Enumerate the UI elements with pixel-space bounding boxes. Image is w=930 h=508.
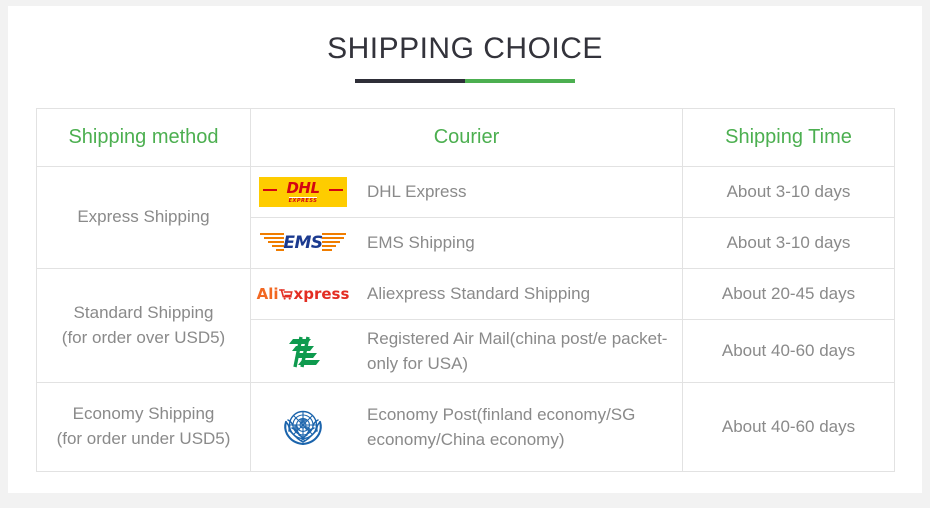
courier-name: Economy Post(finland economy/SG economy/… (355, 402, 682, 453)
ems-stripes-right (322, 233, 346, 251)
logo-slot: DHL EXPRESS (251, 177, 355, 207)
logo-slot: Ali xpress (251, 287, 355, 302)
shopping-cart-icon (279, 287, 294, 302)
method-label: Economy Shipping (37, 402, 250, 427)
method-cell-economy: Economy Shipping (for order under USD5) (37, 383, 251, 472)
ems-stripes-left (260, 233, 284, 251)
shipping-table: Shipping method Courier Shipping Time Ex… (36, 108, 895, 472)
method-cell-standard: Standard Shipping (for order over USD5) (37, 269, 251, 383)
table-row: Express Shipping DHL EXPRESS DHL Expr (37, 167, 895, 218)
column-header-shipping-time: Shipping Time (683, 109, 895, 167)
logo-slot (251, 401, 355, 453)
time-cell: About 3-10 days (683, 218, 895, 269)
method-label: Standard Shipping (37, 301, 250, 326)
method-note: (for order over USD5) (37, 326, 250, 351)
courier-name: Aliexpress Standard Shipping (355, 281, 590, 307)
courier-cell-aliexpress: Ali xpress (251, 269, 683, 320)
page-title: SHIPPING CHOICE (8, 32, 922, 65)
china-post-logo (280, 328, 326, 374)
ems-logo-word: EMS (283, 235, 322, 252)
courier-name: EMS Shipping (355, 230, 475, 256)
courier-cell-ems: EMS EMS Shipping (251, 218, 683, 269)
dhl-logo-subtext: EXPRESS (289, 197, 318, 204)
logo-slot (251, 328, 355, 374)
title-underline (355, 79, 575, 83)
dhl-bar-right (329, 189, 343, 191)
time-cell: About 20-45 days (683, 269, 895, 320)
aliexpress-logo-prefix: Ali (257, 287, 279, 302)
courier-name: DHL Express (355, 179, 467, 205)
table-row: Economy Shipping (for order under USD5) (37, 383, 895, 472)
method-cell-express: Express Shipping (37, 167, 251, 269)
title-underline-dark (355, 79, 465, 83)
time-cell: About 40-60 days (683, 320, 895, 383)
dhl-logo: DHL EXPRESS (259, 177, 347, 207)
united-nations-logo (277, 401, 329, 453)
courier-cell-economy-post: Economy Post(finland economy/SG economy/… (251, 383, 683, 472)
dhl-logo-word: DHL (286, 181, 319, 196)
table-row: Standard Shipping (for order over USD5) … (37, 269, 895, 320)
time-cell: About 3-10 days (683, 167, 895, 218)
column-header-shipping-method: Shipping method (37, 109, 251, 167)
column-header-courier: Courier (251, 109, 683, 167)
courier-cell-dhl: DHL EXPRESS DHL Express (251, 167, 683, 218)
time-cell: About 40-60 days (683, 383, 895, 472)
method-label: Express Shipping (37, 205, 250, 230)
title-underline-green (465, 79, 575, 83)
dhl-bar-left (263, 189, 277, 191)
courier-cell-china-post: Registered Air Mail(china post/e packet-… (251, 320, 683, 383)
method-note: (for order under USD5) (37, 427, 250, 452)
aliexpress-logo-suffix: xpress (294, 287, 350, 302)
table-header-row: Shipping method Courier Shipping Time (37, 109, 895, 167)
aliexpress-logo: Ali xpress (257, 287, 350, 302)
ems-logo: EMS (258, 228, 348, 258)
logo-slot: EMS (251, 228, 355, 258)
courier-name: Registered Air Mail(china post/e packet-… (355, 326, 682, 377)
shipping-choice-card: SHIPPING CHOICE Shipping method Courier … (8, 6, 922, 493)
title-block: SHIPPING CHOICE (8, 6, 922, 83)
